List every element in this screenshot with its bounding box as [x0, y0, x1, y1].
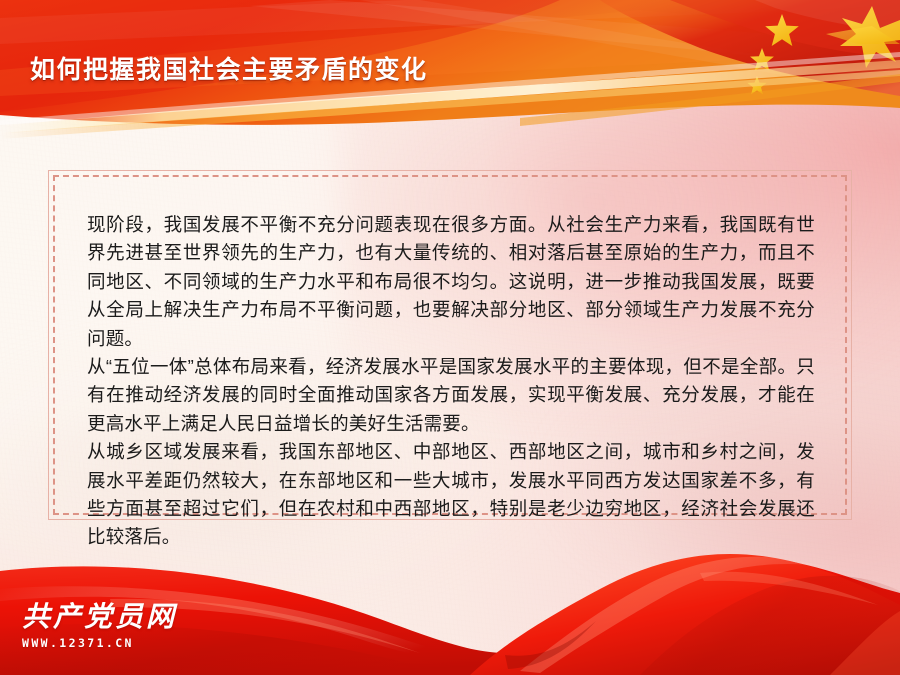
footer-ribbon: 共产党员网 WWW.12371.CN	[0, 535, 900, 675]
slide-root: 如何把握我国社会主要矛盾的变化 现阶段，我国发展不平衡不充分问题表现在很多方面。…	[0, 0, 900, 675]
body-text: 现阶段，我国发展不平衡不充分问题表现在很多方面。从社会生产力来看，我国既有世界先…	[87, 211, 815, 552]
paragraph-2: 从“五位一体”总体布局来看，经济发展水平是国家发展水平的主要体现，但不是全部。只…	[87, 353, 815, 438]
content-frame: 现阶段，我国发展不平衡不充分问题表现在很多方面。从社会生产力来看，我国既有世界先…	[48, 170, 852, 520]
content-frame-inner: 现阶段，我国发展不平衡不充分问题表现在很多方面。从社会生产力来看，我国既有世界先…	[53, 175, 847, 515]
site-logo-text: 共产党员网	[22, 603, 177, 631]
header-banner: 如何把握我国社会主要矛盾的变化	[0, 0, 900, 140]
page-title: 如何把握我国社会主要矛盾的变化	[30, 50, 428, 86]
site-logo-url: WWW.12371.CN	[22, 638, 177, 650]
paragraph-1: 现阶段，我国发展不平衡不充分问题表现在很多方面。从社会生产力来看，我国既有世界先…	[87, 211, 815, 353]
site-logo[interactable]: 共产党员网 WWW.12371.CN	[22, 603, 177, 650]
